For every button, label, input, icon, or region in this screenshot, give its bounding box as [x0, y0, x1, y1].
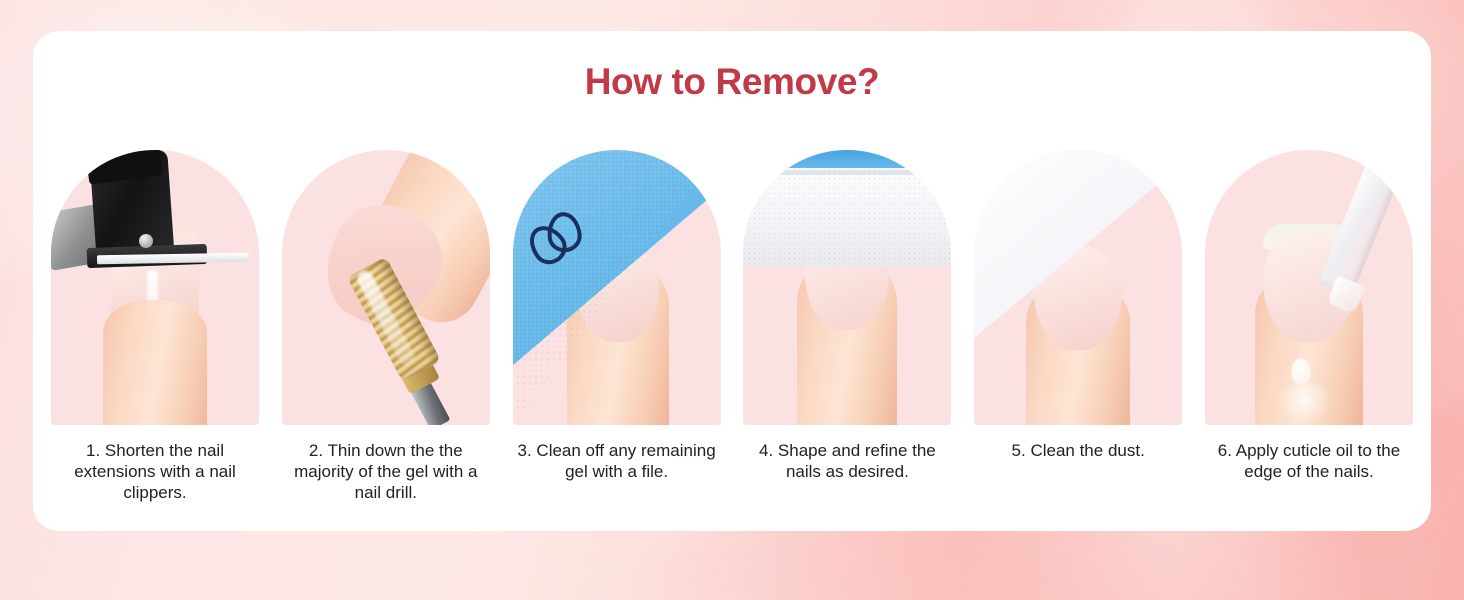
- nail-buffer-photo: [743, 150, 951, 425]
- dust-cloth-photo: [974, 150, 1182, 425]
- step-item-1: 1. Shorten the nail extensions with a na…: [51, 150, 259, 503]
- buffer-seam-line: [753, 170, 949, 175]
- step-caption: 1. Shorten the nail extensions with a na…: [51, 440, 259, 503]
- step-item-3: Beetles 3. Clean off any remaining gel w…: [513, 150, 721, 503]
- step-item-6: 6. Apply cuticle oil to the edge of the …: [1205, 150, 1413, 503]
- step-caption: 3. Clean off any remaining gel with a fi…: [513, 440, 721, 482]
- finger-shape: [103, 300, 207, 425]
- oil-sheen: [1277, 382, 1333, 425]
- oil-drop: [1291, 358, 1311, 384]
- step-caption: 2. Thin down the the majority of the gel…: [282, 440, 490, 503]
- nail-clipper-photo: [51, 150, 259, 425]
- step-item-2: 2. Thin down the the majority of the gel…: [282, 150, 490, 503]
- content-card: How to Remove? 1. Shorten the nail exten…: [33, 31, 1431, 531]
- page-background: How to Remove? 1. Shorten the nail exten…: [0, 0, 1464, 600]
- page-title: How to Remove?: [33, 31, 1431, 103]
- buffer-blue-edge: [781, 150, 931, 168]
- step-item-5: 5. Clean the dust.: [974, 150, 1182, 503]
- step-item-4: 4. Shape and refine the nails as desired…: [743, 150, 951, 503]
- steps-row: 1. Shorten the nail extensions with a na…: [51, 150, 1413, 503]
- step-caption: 6. Apply cuticle oil to the edge of the …: [1205, 440, 1413, 482]
- nail-file-photo: Beetles: [513, 150, 721, 425]
- step-caption: 4. Shape and refine the nails as desired…: [743, 440, 951, 482]
- step-caption: 5. Clean the dust.: [974, 440, 1182, 461]
- clipper-pin-icon: [139, 234, 153, 248]
- nail-drill-photo: [282, 150, 490, 425]
- clipper-blade-icon: [97, 253, 249, 265]
- cuticle-oil-photo: [1205, 150, 1413, 425]
